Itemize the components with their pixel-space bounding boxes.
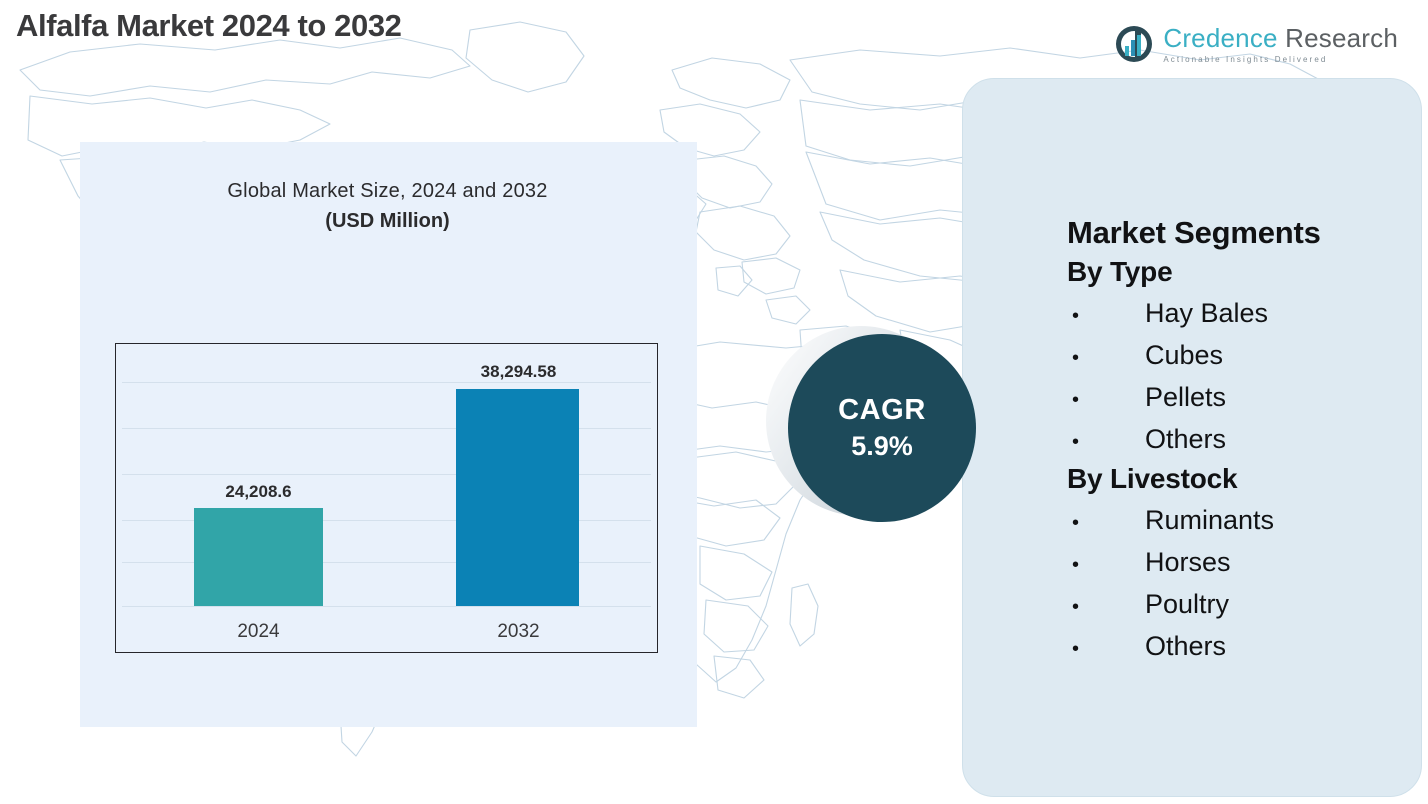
list-item-label: Others [1145, 625, 1226, 667]
bullet-icon: • [1067, 508, 1145, 539]
brand-logo: Credence Research Actionable Insights De… [1114, 24, 1398, 64]
category-label-2024: 2024 [176, 621, 341, 643]
bar-chart-circle-logo-icon [1114, 24, 1154, 64]
bar-2032 [456, 389, 579, 606]
segment-group-title-livestock: By Livestock [1067, 460, 1412, 499]
list-item: • Pellets [1067, 376, 1412, 418]
list-item: • Ruminants [1067, 499, 1412, 541]
list-item-label: Others [1145, 418, 1226, 460]
page-title: Alfalfa Market 2024 to 2032 [16, 8, 402, 44]
list-item-label: Pellets [1145, 376, 1226, 418]
list-item: • Horses [1067, 541, 1412, 583]
cagr-label: CAGR [838, 394, 926, 427]
list-item-label: Horses [1145, 541, 1231, 583]
segment-list-type: • Hay Bales • Cubes • Pellets • Others [1067, 292, 1412, 460]
brand-text: Credence Research Actionable Insights De… [1163, 25, 1398, 64]
bullet-icon: • [1067, 592, 1145, 623]
gridline [122, 382, 651, 383]
chart-heading-block: Global Market Size, 2024 and 2032 (USD M… [115, 180, 660, 233]
list-item-label: Cubes [1145, 334, 1223, 376]
bar-value-2024: 24,208.6 [176, 482, 341, 502]
bar-chart: 24,208.6 38,294.58 2024 2032 [115, 343, 658, 653]
bullet-icon: • [1067, 550, 1145, 581]
cagr-circle: CAGR 5.9% [788, 334, 976, 522]
bullet-icon: • [1067, 385, 1145, 416]
segment-list-livestock: • Ruminants • Horses • Poultry • Others [1067, 499, 1412, 667]
list-item-label: Hay Bales [1145, 292, 1268, 334]
bullet-icon: • [1067, 343, 1145, 374]
brand-name: Credence Research [1163, 25, 1398, 51]
category-label-2032: 2032 [436, 621, 601, 643]
list-item: • Poultry [1067, 583, 1412, 625]
bar-2024 [194, 508, 323, 606]
bar-value-2032: 38,294.58 [436, 362, 601, 382]
list-item: • Others [1067, 625, 1412, 667]
list-item: • Others [1067, 418, 1412, 460]
list-item-label: Poultry [1145, 583, 1229, 625]
brand-name-part1: Credence [1163, 23, 1277, 53]
list-item: • Cubes [1067, 334, 1412, 376]
cagr-badge: CAGR 5.9% [766, 326, 976, 531]
list-item: • Hay Bales [1067, 292, 1412, 334]
gridline [122, 606, 651, 607]
market-segments: Market Segments By Type • Hay Bales • Cu… [1067, 212, 1412, 667]
bullet-icon: • [1067, 427, 1145, 458]
segments-title: Market Segments [1067, 212, 1412, 253]
chart-subtitle: (USD Million) [115, 210, 660, 233]
brand-tagline: Actionable Insights Delivered [1163, 56, 1398, 64]
bullet-icon: • [1067, 634, 1145, 665]
chart-heading: Global Market Size, 2024 and 2032 (USD M… [115, 180, 660, 233]
bullet-icon: • [1067, 301, 1145, 332]
chart-title: Global Market Size, 2024 and 2032 [115, 180, 660, 203]
list-item-label: Ruminants [1145, 499, 1274, 541]
segment-group-title-type: By Type [1067, 253, 1412, 292]
cagr-value: 5.9% [851, 431, 913, 462]
brand-name-part2: Research [1278, 23, 1398, 53]
